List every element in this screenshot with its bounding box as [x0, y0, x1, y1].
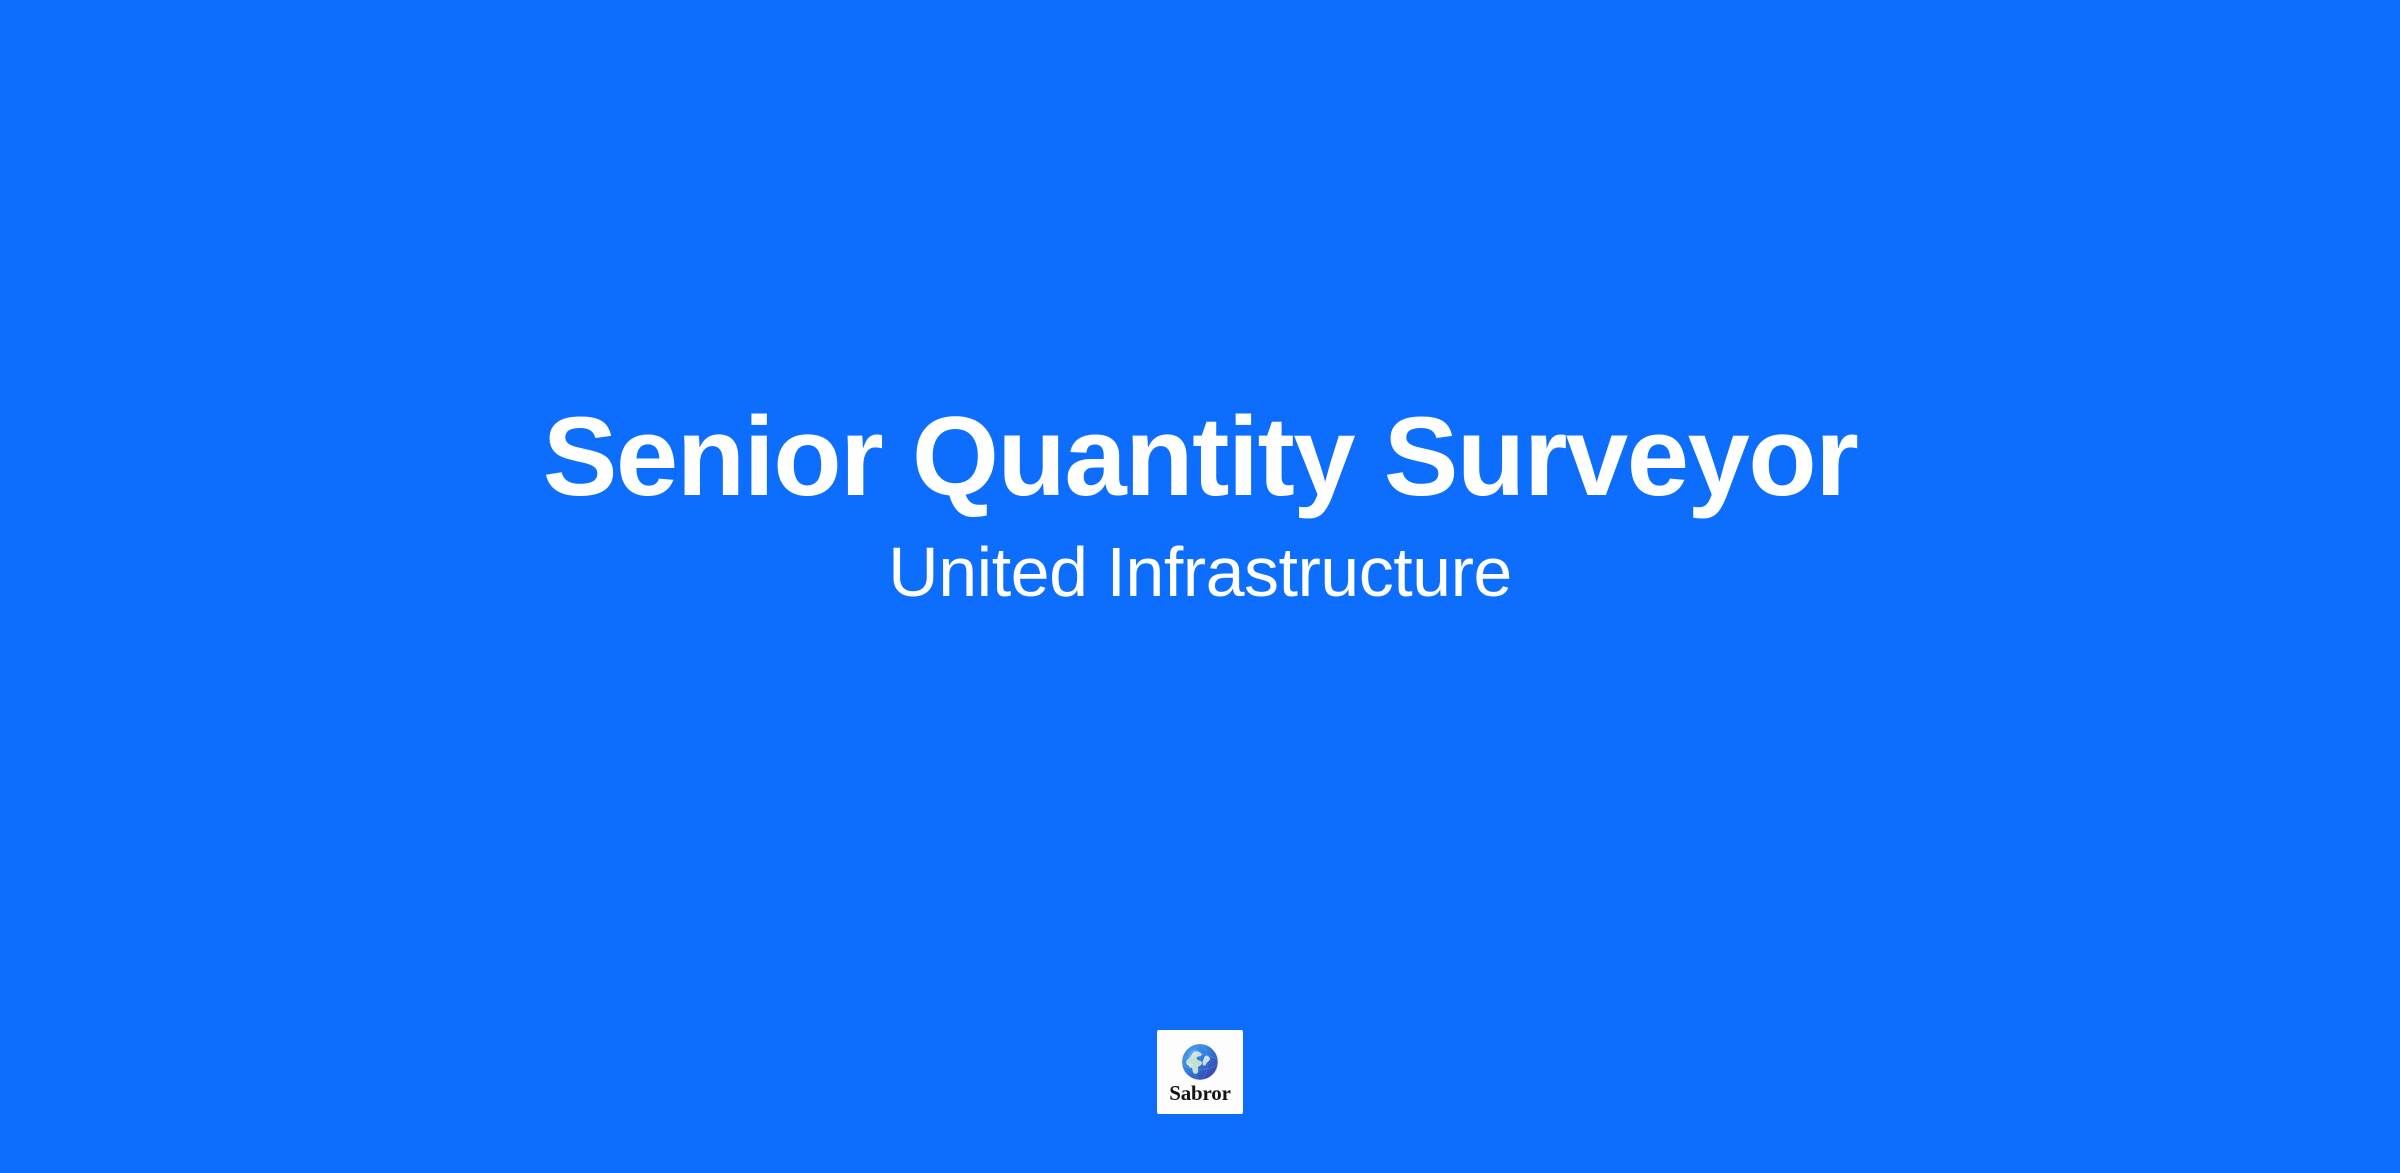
brand-wordmark: Sabror: [1169, 1083, 1230, 1104]
hero-block: Senior Quantity Surveyor United Infrastr…: [0, 0, 2400, 1010]
company-name: United Infrastructure: [888, 533, 1512, 611]
brand-logo: Sabror: [1157, 1030, 1243, 1114]
globe-icon: [1180, 1042, 1220, 1082]
page-title: Senior Quantity Surveyor: [543, 398, 1858, 517]
job-posting-slide: Senior Quantity Surveyor United Infrastr…: [0, 0, 2400, 1173]
